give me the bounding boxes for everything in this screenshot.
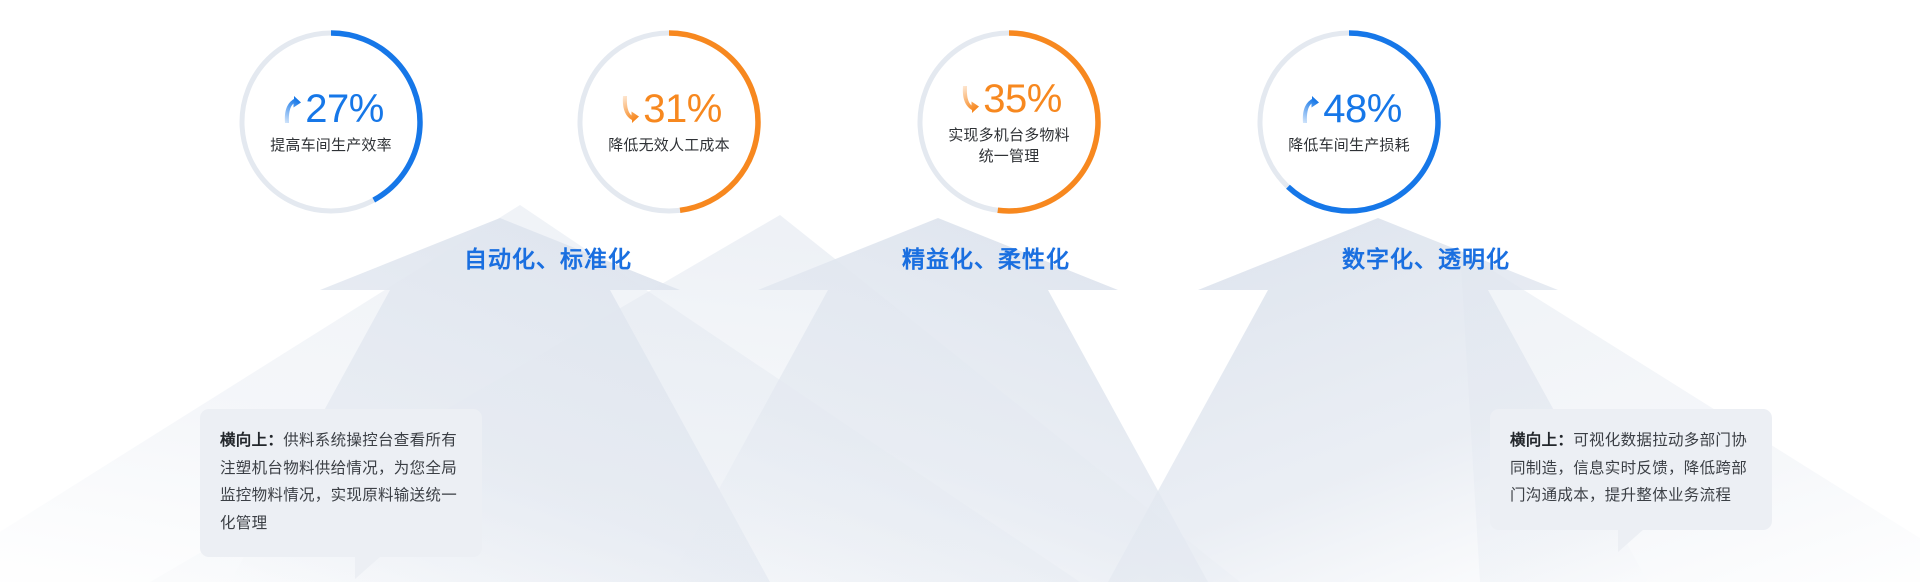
- callout-right-tail: [1618, 529, 1644, 552]
- metric-card-2: 31% 降低无效人工成本: [574, 27, 764, 217]
- arrow-up-icon: [278, 92, 304, 126]
- callout-right-prefix: 横向上：: [1510, 432, 1573, 449]
- callout-left: 横向上：供料系统操控台查看所有注塑机台物料供给情况，为您全局监控物料情况，实现原…: [200, 409, 482, 557]
- metric-card-1: 27% 提高车间生产效率: [236, 27, 426, 217]
- metric-value-row-3: 35%: [914, 79, 1104, 119]
- metric-caption-3: 实现多机台多物料 统一管理: [914, 126, 1104, 167]
- stage-label-1: 自动化、标准化: [464, 240, 632, 274]
- callout-right: 横向上：可视化数据拉动多部门协同制造，信息实时反馈，降低跨部门沟通成本，提升整体…: [1490, 409, 1772, 530]
- metric-value-3: 35%: [983, 79, 1062, 119]
- metric-value-4: 48%: [1323, 89, 1402, 129]
- metric-caption-4: 降低车间生产损耗: [1254, 136, 1444, 157]
- callout-left-tail: [355, 556, 381, 579]
- arrow-down-icon: [616, 92, 642, 126]
- metric-caption-1: 提高车间生产效率: [236, 136, 426, 157]
- metric-value-1: 27%: [305, 89, 384, 129]
- metric-card-3: 35% 实现多机台多物料 统一管理: [914, 27, 1104, 217]
- metric-value-row-4: 48%: [1254, 89, 1444, 129]
- arrow-down-icon: [956, 82, 982, 116]
- metric-card-4: 48% 降低车间生产损耗: [1254, 27, 1444, 217]
- metric-value-2: 31%: [643, 89, 722, 129]
- metric-caption-2: 降低无效人工成本: [574, 136, 764, 157]
- metric-value-row-2: 31%: [574, 89, 764, 129]
- callout-right-text: 横向上：可视化数据拉动多部门协同制造，信息实时反馈，降低跨部门沟通成本，提升整体…: [1510, 427, 1752, 510]
- metric-body-3: 35% 实现多机台多物料 统一管理: [914, 79, 1104, 167]
- stage-label-3: 数字化、透明化: [1342, 240, 1510, 274]
- metric-value-row-1: 27%: [236, 89, 426, 129]
- metric-body-1: 27% 提高车间生产效率: [236, 89, 426, 157]
- metric-body-4: 48% 降低车间生产损耗: [1254, 89, 1444, 157]
- callout-left-prefix: 横向上：: [220, 432, 283, 449]
- infographic-canvas: 27% 提高车间生产效率 31% 降低无效人工成本: [0, 0, 1920, 582]
- arrow-up-icon: [1296, 92, 1322, 126]
- metric-body-2: 31% 降低无效人工成本: [574, 89, 764, 157]
- callout-left-text: 横向上：供料系统操控台查看所有注塑机台物料供给情况，为您全局监控物料情况，实现原…: [220, 427, 462, 537]
- stage-label-2: 精益化、柔性化: [902, 240, 1070, 274]
